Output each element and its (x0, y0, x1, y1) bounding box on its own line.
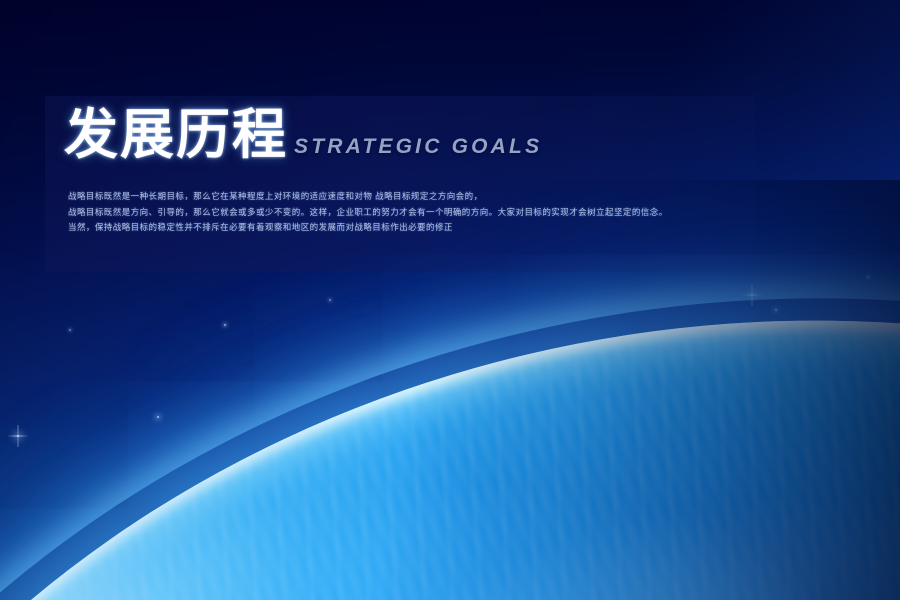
horizon-glow (0, 0, 900, 600)
body-paragraph: 战略目标既然是一种长期目标，那么它在某种程度上对环境的适应速度和对物 战略目标规… (68, 189, 808, 236)
page-subtitle: STRATEGIC GOALS (294, 135, 542, 159)
page-title: 发展历程 (64, 108, 288, 162)
body-line: 战略目标既然是一种长期目标，那么它在某种程度上对环境的适应速度和对物 战略目标规… (68, 189, 808, 205)
headline-group: 发展历程 STRATEGIC GOALS (64, 108, 542, 162)
body-line: 战略目标既然是方向、引导的，那么它就会或多或少不变的。这样，企业职工的努力才会有… (68, 205, 808, 221)
body-line: 当然，保持战略目标的稳定性并不排斥在必要有着观察和地区的发展而对战略目标作出必要… (68, 220, 808, 236)
space-banner: 发展历程 STRATEGIC GOALS 战略目标既然是一种长期目标，那么它在某… (0, 0, 900, 600)
